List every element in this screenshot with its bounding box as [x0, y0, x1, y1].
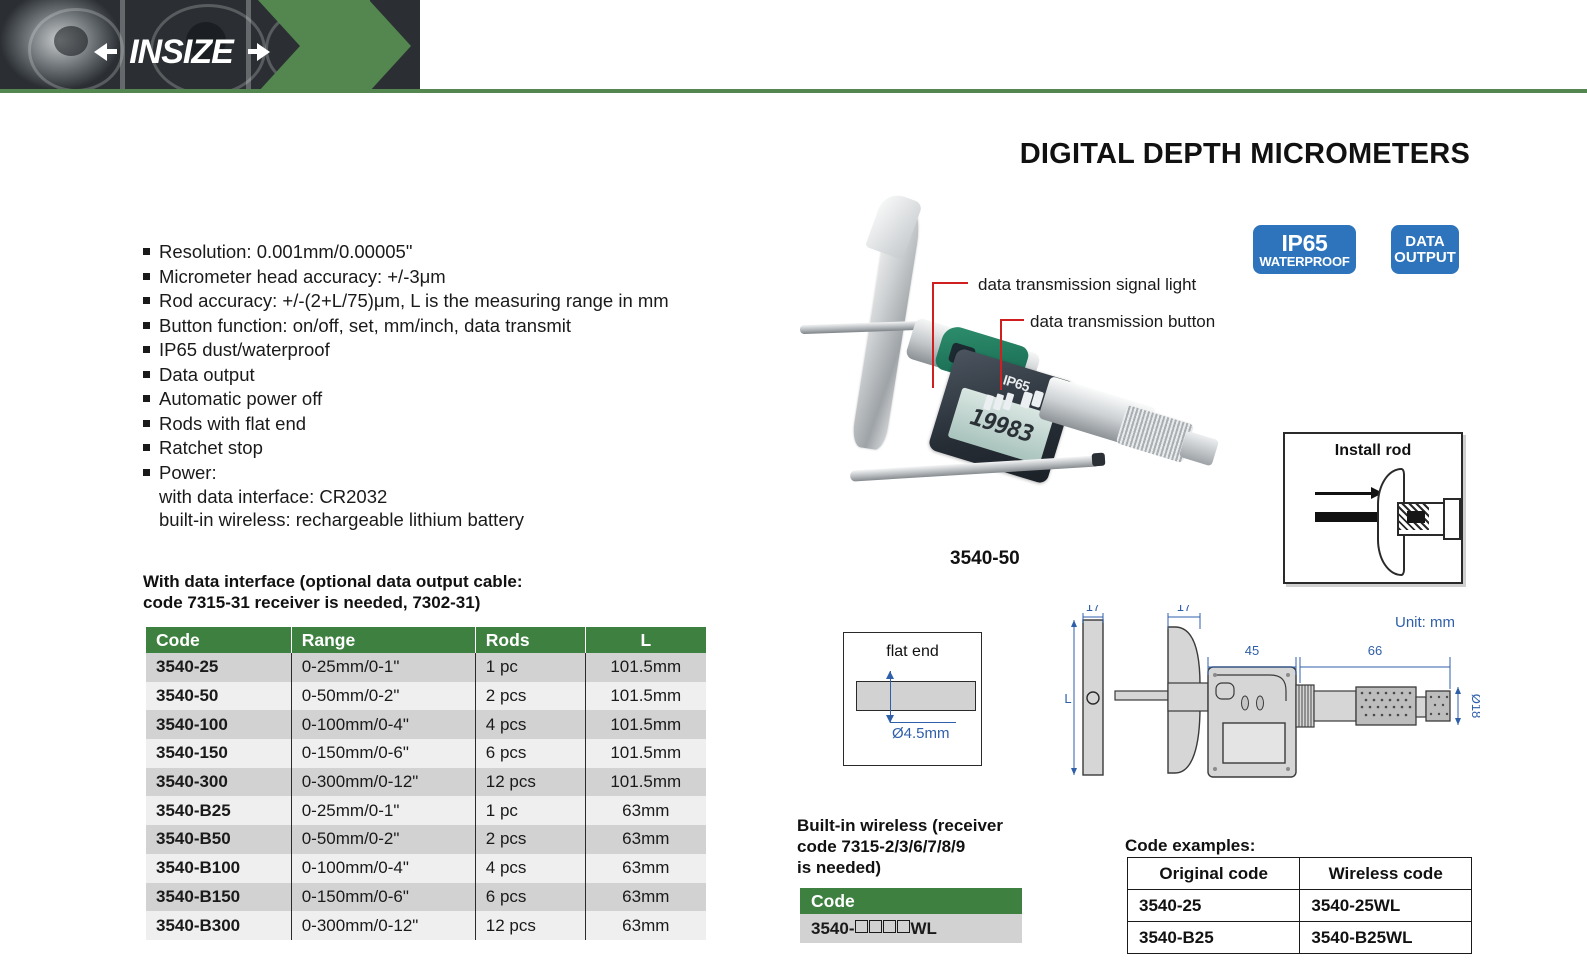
- table-row: 3540-B300 0-300mm/0-12" 12 pcs 63mm: [146, 911, 706, 940]
- rod-hole: [1087, 692, 1099, 704]
- cell-code: 3540-25: [146, 653, 291, 682]
- flat-end-diagram: flat end Ø4.5mm: [843, 632, 982, 766]
- cell-wireless-code: 3540-B25WL: [1300, 922, 1472, 954]
- badge-data-line2: OUTPUT: [1394, 250, 1456, 266]
- engineering-drawing: 17 17 45 66 Ø18 L: [1060, 605, 1480, 795]
- feature-item: Button function: on/off, set, mm/inch, d…: [143, 314, 763, 337]
- install-rod-part: [1315, 512, 1379, 522]
- cell-l: 101.5mm: [585, 768, 706, 797]
- feature-text: Power:: [159, 461, 217, 484]
- badge-data-line1: DATA: [1405, 234, 1444, 250]
- logo-text: INSIZE: [129, 35, 233, 69]
- feature-text: Button function: on/off, set, mm/inch, d…: [159, 314, 571, 337]
- cell-l: 63mm: [585, 825, 706, 854]
- rod-shaft: [1115, 691, 1175, 700]
- bullet-icon: [143, 395, 150, 402]
- table-row: 3540-100 0-100mm/0-4" 4 pcs 101.5mm: [146, 710, 706, 739]
- dim-thimble-diameter: Ø18: [1469, 694, 1480, 719]
- table-header-row: Original code Wireless code: [1128, 858, 1472, 890]
- bullet-icon: [143, 346, 150, 353]
- table-row: 3540-25 3540-25WL: [1128, 890, 1472, 922]
- table-row: 3540-25 0-25mm/0-1" 1 pc 101.5mm: [146, 653, 706, 682]
- cell-rods: 4 pcs: [475, 854, 585, 883]
- cell-range: 0-100mm/0-4": [291, 710, 475, 739]
- dim-rod-length: L: [1064, 691, 1071, 706]
- flat-end-diameter-label: Ø4.5mm: [892, 725, 950, 742]
- callout-label-transmission-button: data transmission button: [1030, 312, 1215, 332]
- feature-text: Rods with flat end: [159, 412, 306, 435]
- cell-range: 0-300mm/0-12": [291, 911, 475, 940]
- feature-item: Data output: [143, 363, 763, 386]
- dim-barrel-length: 66: [1368, 643, 1382, 658]
- cell-rods: 1 pc: [475, 796, 585, 825]
- code-prefix: 3540-: [811, 919, 854, 938]
- wireless-code-table: Code 3540-WL: [800, 888, 1022, 943]
- cell-code: 3540-B300: [146, 911, 291, 940]
- feature-text: Data output: [159, 363, 255, 386]
- table-header-row: Code Range Rods L: [146, 627, 706, 653]
- install-rod-diagram: Install rod: [1283, 432, 1463, 584]
- cell-range: 0-50mm/0-2": [291, 825, 475, 854]
- spare-rod-tip: [1092, 453, 1106, 467]
- cell-rods: 2 pcs: [475, 825, 585, 854]
- wireless-table-caption: Built-in wireless (receiver code 7315-2/…: [797, 815, 1057, 878]
- bullet-icon: [143, 322, 150, 329]
- feature-text: Resolution: 0.001mm/0.00005": [159, 240, 412, 263]
- dim-arrow-up-icon: [886, 671, 894, 679]
- callout-label-signal-light: data transmission signal light: [978, 275, 1196, 295]
- cell-rods: 6 pcs: [475, 883, 585, 912]
- column-header-rods: Rods: [475, 627, 585, 653]
- table-row: 3540-150 0-150mm/0-6" 6 pcs 101.5mm: [146, 739, 706, 768]
- table-row: 3540-WL: [800, 914, 1022, 943]
- install-arrow-shaft: [1315, 492, 1373, 495]
- code-examples-table: Original code Wireless code 3540-25 3540…: [1127, 857, 1472, 954]
- cell-range: 0-50mm/0-2": [291, 682, 475, 711]
- cell-range: 0-300mm/0-12": [291, 768, 475, 797]
- cell-range: 0-25mm/0-1": [291, 796, 475, 825]
- cell-range: 0-25mm/0-1": [291, 653, 475, 682]
- cell-code: 3540-B25: [146, 796, 291, 825]
- flat-end-dim-lead: [890, 722, 956, 723]
- table-row: 3540-B25 3540-B25WL: [1128, 922, 1472, 954]
- column-header-range: Range: [291, 627, 475, 653]
- page-title: DIGITAL DEPTH MICROMETERS: [1020, 138, 1470, 171]
- model-label: 3540-50: [950, 548, 1020, 570]
- cell-range: 0-150mm/0-6": [291, 739, 475, 768]
- cell-rods: 1 pc: [475, 653, 585, 682]
- code-suffix: WL: [910, 919, 936, 938]
- cell-l: 63mm: [585, 883, 706, 912]
- feature-item: Automatic power off: [143, 387, 763, 410]
- main-product-table: Code Range Rods L 3540-25 0-25mm/0-1" 1 …: [146, 627, 706, 940]
- badge-ip65-waterproof: IP65 WATERPROOF: [1253, 225, 1356, 274]
- cell-wireless-code-pattern: 3540-WL: [800, 914, 1022, 943]
- feature-text: IP65 dust/waterproof: [159, 338, 330, 361]
- table-row: 3540-B150 0-150mm/0-6" 6 pcs 63mm: [146, 883, 706, 912]
- feature-item: Rods with flat end: [143, 412, 763, 435]
- badge-data-output: DATA OUTPUT: [1391, 225, 1459, 274]
- cell-code: 3540-B50: [146, 825, 291, 854]
- install-cap: [1443, 498, 1461, 540]
- catalog-page: INSIZE DIGITAL DEPTH MICROMETERS Resolut…: [0, 0, 1587, 974]
- dim-base-width: 17: [1177, 605, 1191, 614]
- bullet-icon: [143, 444, 150, 451]
- column-header-code: Code: [800, 888, 1022, 914]
- main-table-caption-line1: With data interface (optional data outpu…: [143, 571, 743, 592]
- cell-code: 3540-100: [146, 710, 291, 739]
- table-row: 3540-B25 0-25mm/0-1" 1 pc 63mm: [146, 796, 706, 825]
- badge-ip65-line2: WATERPROOF: [1259, 255, 1349, 269]
- table-row: 3540-B100 0-100mm/0-4" 4 pcs 63mm: [146, 854, 706, 883]
- cell-l: 63mm: [585, 796, 706, 825]
- flat-end-title: flat end: [844, 643, 981, 661]
- badge-ip65-line1: IP65: [1281, 231, 1327, 255]
- cell-rods: 12 pcs: [475, 911, 585, 940]
- ratchet-stop: [1179, 431, 1219, 467]
- feature-text: Automatic power off: [159, 387, 322, 410]
- feature-item: IP65 dust/waterproof: [143, 338, 763, 361]
- cell-rods: 2 pcs: [475, 682, 585, 711]
- flat-end-rod: [856, 681, 976, 711]
- wireless-caption-line3: is needed): [797, 857, 1057, 878]
- cell-l: 101.5mm: [585, 653, 706, 682]
- banner-rule: [0, 89, 1587, 93]
- cell-original-code: 3540-B25: [1128, 922, 1300, 954]
- feature-subline: with data interface: CR2032: [159, 485, 763, 508]
- feature-text: Micrometer head accuracy: +/-3μm: [159, 265, 446, 288]
- column-header-l: L: [585, 627, 706, 653]
- install-rod-title: Install rod: [1285, 442, 1461, 460]
- cell-wireless-code: 3540-25WL: [1300, 890, 1472, 922]
- column-header-original-code: Original code: [1128, 858, 1300, 890]
- cell-range: 0-150mm/0-6": [291, 883, 475, 912]
- bullet-icon: [143, 273, 150, 280]
- cell-l: 101.5mm: [585, 710, 706, 739]
- main-table-caption: With data interface (optional data outpu…: [143, 571, 743, 613]
- wireless-caption-line1: Built-in wireless (receiver: [797, 815, 1057, 836]
- table-row: 3540-50 0-50mm/0-2" 2 pcs 101.5mm: [146, 682, 706, 711]
- examples-table-caption: Code examples:: [1125, 836, 1255, 856]
- bullet-icon: [143, 248, 150, 255]
- cell-range: 0-100mm/0-4": [291, 854, 475, 883]
- insize-logo: INSIZE: [96, 34, 266, 70]
- page-banner: INSIZE: [0, 0, 1587, 93]
- cell-code: 3540-B100: [146, 854, 291, 883]
- lcd-reading: 19983: [965, 405, 1038, 448]
- placeholder-box-icon: [883, 920, 896, 933]
- placeholder-box-icon: [869, 920, 882, 933]
- sleeve: [1314, 691, 1356, 721]
- cell-rods: 6 pcs: [475, 739, 585, 768]
- bullet-icon: [143, 371, 150, 378]
- cell-code: 3540-150: [146, 739, 291, 768]
- feature-item: Resolution: 0.001mm/0.00005": [143, 240, 763, 263]
- ratchet-knob: [1426, 691, 1450, 721]
- cell-l: 63mm: [585, 911, 706, 940]
- dim-head-length: 45: [1245, 643, 1259, 658]
- product-photo: 19983 IP65: [790, 195, 1260, 485]
- placeholder-box-icon: [855, 920, 868, 933]
- install-bore: [1407, 511, 1425, 523]
- wireless-caption-line2: code 7315-2/3/6/7/8/9: [797, 836, 1057, 857]
- feature-subline: built-in wireless: rechargeable lithium …: [159, 508, 763, 531]
- feature-item: Rod accuracy: +/-(2+L/75)μm, L is the me…: [143, 289, 763, 312]
- feature-item: Power:: [143, 461, 763, 484]
- cell-rods: 4 pcs: [475, 710, 585, 739]
- banner-chevron-point: [369, 0, 411, 92]
- banner-chevron: [300, 0, 370, 93]
- cell-l: 101.5mm: [585, 739, 706, 768]
- feature-item: Ratchet stop: [143, 436, 763, 459]
- table-row: 3540-B50 0-50mm/0-2" 2 pcs 63mm: [146, 825, 706, 854]
- feature-list: Resolution: 0.001mm/0.00005" Micrometer …: [143, 240, 763, 531]
- placeholder-box-icon: [897, 920, 910, 933]
- feature-item: Micrometer head accuracy: +/-3μm: [143, 265, 763, 288]
- table-row: 3540-300 0-300mm/0-12" 12 pcs 101.5mm: [146, 768, 706, 797]
- table-header-row: Code: [800, 888, 1022, 914]
- cell-code: 3540-B150: [146, 883, 291, 912]
- lcd-outline: [1223, 723, 1285, 763]
- cell-l: 63mm: [585, 854, 706, 883]
- cell-code: 3540-50: [146, 682, 291, 711]
- feature-text: Ratchet stop: [159, 436, 263, 459]
- main-table-caption-line2: code 7315-31 receiver is needed, 7302-31…: [143, 592, 743, 613]
- logo-right-arrow-icon: [257, 43, 270, 61]
- bullet-icon: [143, 297, 150, 304]
- cell-code: 3540-300: [146, 768, 291, 797]
- dim-rod-width: 17: [1086, 605, 1100, 614]
- feature-text: Rod accuracy: +/-(2+L/75)μm, L is the me…: [159, 289, 669, 312]
- column-header-wireless-code: Wireless code: [1300, 858, 1472, 890]
- logo-left-bar: [105, 49, 117, 54]
- bullet-icon: [143, 469, 150, 476]
- bullet-icon: [143, 420, 150, 427]
- cell-rods: 12 pcs: [475, 768, 585, 797]
- cell-original-code: 3540-25: [1128, 890, 1300, 922]
- column-header-code: Code: [146, 627, 291, 653]
- cell-l: 101.5mm: [585, 682, 706, 711]
